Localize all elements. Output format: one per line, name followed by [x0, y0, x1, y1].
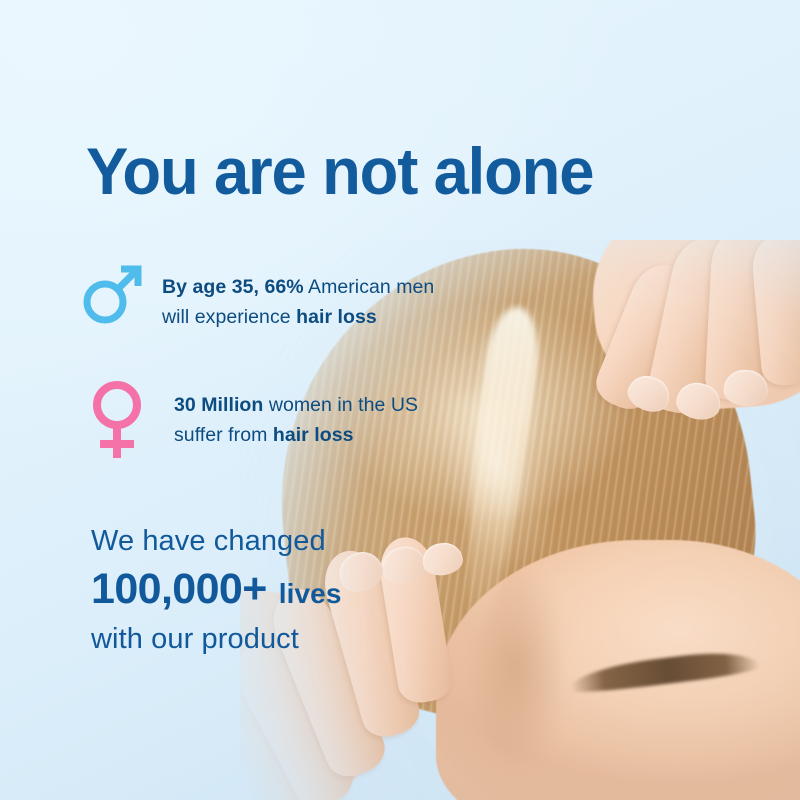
female-gender-symbol-icon — [88, 378, 146, 467]
male-gender-symbol-icon — [80, 262, 144, 331]
stat-men-rest2: will experience — [162, 306, 296, 328]
promo-poster: You are not alone By age 35, 66% America… — [0, 0, 800, 800]
stat-women-rest2: suffer from — [174, 424, 273, 446]
stat-men-bold1: By age 35, 66% — [162, 276, 304, 298]
stat-men-line2: will experience hair loss — [162, 306, 377, 328]
right-hand — [489, 240, 800, 511]
stat-text-men: By age 35, 66% American men will experie… — [162, 262, 434, 332]
stat-text-women: 30 Million women in the US suffer from h… — [174, 378, 418, 450]
stat-row-women: 30 Million women in the US suffer from h… — [88, 378, 418, 467]
closing-number: 100,000+ — [91, 568, 267, 611]
stat-women-rest1: women in the US — [263, 394, 418, 416]
stat-row-men: By age 35, 66% American men will experie… — [80, 262, 434, 332]
closing-statement: We have changed 100,000+ lives with our … — [91, 527, 342, 654]
headline: You are not alone — [86, 138, 593, 204]
stat-women-bold1: 30 Million — [174, 394, 263, 416]
closing-line3: with our product — [91, 625, 342, 654]
stat-women-line2: suffer from hair loss — [174, 424, 354, 446]
stat-men-rest1: American men — [304, 276, 435, 298]
stat-women-bold2: hair loss — [273, 424, 354, 446]
closing-number-word: lives — [279, 580, 342, 608]
stat-women-line1: 30 Million women in the US — [174, 394, 418, 416]
stat-men-line1: By age 35, 66% American men — [162, 276, 434, 298]
closing-line1: We have changed — [91, 527, 342, 556]
closing-line2: 100,000+ lives — [91, 568, 342, 611]
stat-men-bold2: hair loss — [296, 306, 377, 328]
